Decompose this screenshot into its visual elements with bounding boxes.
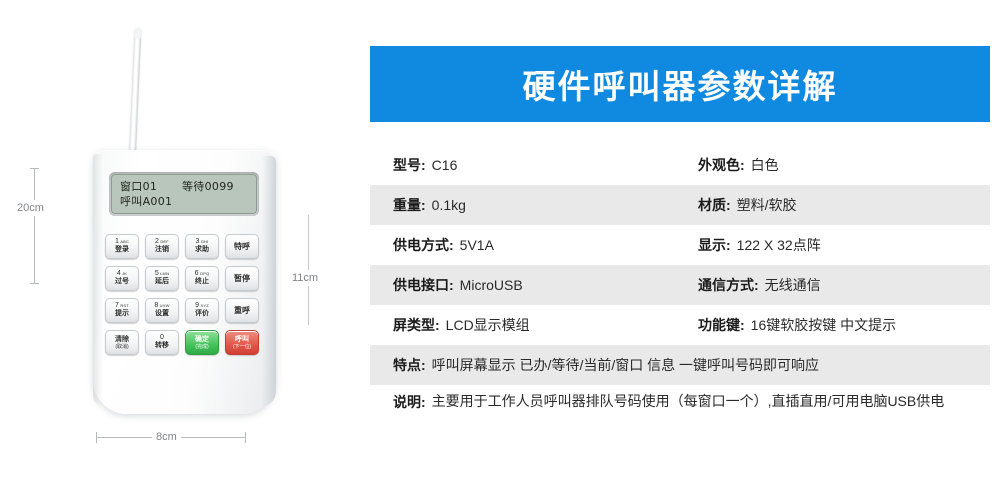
- key-8-settings[interactable]: 8 UVW 设置: [145, 298, 179, 323]
- table-row-note: 说明: 主要用于工作人员呼叫器排队号码使用（每窗口一个）,直插直用/可用电脑US…: [370, 385, 990, 435]
- table-row: 重量: 0.1kg 材质: 塑料/软胶: [370, 185, 990, 225]
- key-label: 评价: [195, 309, 209, 318]
- keypad-row: 清除 (取消) 0 转移 确定 (完成) 呼叫 (下一位): [105, 330, 265, 355]
- spec-value: 122 X 32点阵: [737, 235, 821, 255]
- dimension-label-height: 20cm: [14, 200, 47, 216]
- spec-pane: 硬件呼叫器参数详解 型号: C16 外观色: 白色 重量: 0.1kg 材质: [370, 0, 990, 492]
- spec-cell-power-supply: 供电方式: 5V1A: [393, 235, 698, 255]
- table-row: 屏类型: LCD显示模组 功能键: 16键软胶按键 中文提示: [370, 305, 990, 345]
- key-label: 登录: [115, 245, 129, 254]
- table-row: 供电方式: 5V1A 显示: 122 X 32点阵: [370, 225, 990, 265]
- product-photo-pane: 窗口01 等待0099 呼叫A001 1 ABC 登录 2 DEF: [0, 0, 340, 492]
- spec-cell-power-interface: 供电接口: MicroUSB: [393, 275, 698, 295]
- spec-cell-function-keys: 功能键: 16键软胶按键 中文提示: [698, 315, 980, 335]
- key-4-skip[interactable]: 4 JK 过号: [105, 266, 139, 291]
- spec-label: 通信方式:: [698, 275, 759, 295]
- key-2-logout[interactable]: 2 DEF 注销: [145, 234, 179, 259]
- key-label: 延后: [155, 277, 169, 286]
- key-sublabel: (完成): [195, 344, 208, 350]
- key-7-prompt[interactable]: 7 RST 提示: [105, 298, 139, 323]
- key-3-help[interactable]: 3 GHI 求助: [185, 234, 219, 259]
- key-label: 呼叫: [235, 335, 249, 344]
- spec-value: 呼叫屏幕显示 已办/等待/当前/窗口 信息 一键呼叫号码即可响应: [432, 355, 819, 375]
- spec-value: 无线通信: [765, 275, 821, 295]
- lcd-window-label: 窗口01: [120, 179, 182, 194]
- keypad: 1 ABC 登录 2 DEF 注销 3 GHI 求助 特呼: [105, 234, 265, 362]
- spec-value: LCD显示模组: [446, 315, 530, 335]
- key-label: 确定: [195, 335, 209, 344]
- lcd-screen: 窗口01 等待0099 呼叫A001: [111, 174, 257, 214]
- key-call-next[interactable]: 呼叫 (下一位): [225, 330, 259, 355]
- lcd-bezel: 窗口01 等待0099 呼叫A001: [109, 172, 259, 216]
- spec-label: 重量:: [393, 195, 426, 215]
- spec-value: 塑料/软胶: [737, 195, 797, 215]
- spec-value: C16: [432, 157, 458, 173]
- key-label: 过号: [115, 277, 129, 286]
- key-label: 注销: [155, 245, 169, 254]
- keypad-row: 7 RST 提示 8 UVW 设置 9 XYZ 评价 重呼: [105, 298, 265, 323]
- dimension-line-height: [34, 168, 35, 284]
- key-9-rating[interactable]: 9 XYZ 评价: [185, 298, 219, 323]
- key-sublabel: (取消): [115, 344, 128, 350]
- spec-value: MicroUSB: [460, 277, 523, 293]
- spec-value: 0.1kg: [432, 197, 466, 213]
- spec-cell-model: 型号: C16: [393, 155, 698, 175]
- key-clear-cancel[interactable]: 清除 (取消): [105, 330, 139, 355]
- caller-device: 窗口01 等待0099 呼叫A001 1 ABC 登录 2 DEF: [93, 150, 276, 414]
- key-sublabel: (下一位): [233, 344, 251, 350]
- key-label: 特呼: [234, 242, 250, 252]
- spec-cell-note: 说明: 主要用于工作人员呼叫器排队号码使用（每窗口一个）,直插直用/可用电脑US…: [393, 392, 980, 412]
- page-title: 硬件呼叫器参数详解: [370, 46, 990, 122]
- key-5-postpone[interactable]: 5 LMN 延后: [145, 266, 179, 291]
- spec-value: 主要用于工作人员呼叫器排队号码使用（每窗口一个）,直插直用/可用电脑USB供电: [432, 392, 945, 411]
- key-label: 提示: [115, 309, 129, 318]
- key-label: 转移: [155, 341, 169, 350]
- spec-cell-material: 材质: 塑料/软胶: [698, 195, 980, 215]
- key-label: 重呼: [234, 306, 250, 316]
- spec-value: 5V1A: [460, 237, 494, 253]
- key-label: 清除: [115, 335, 129, 344]
- spec-table: 型号: C16 外观色: 白色 重量: 0.1kg 材质: 塑料/软胶: [370, 145, 990, 435]
- spec-value: 白色: [751, 155, 779, 175]
- key-label: 终止: [195, 277, 209, 286]
- spec-label: 材质:: [698, 195, 731, 215]
- dimension-label-depth: 11cm: [290, 270, 320, 286]
- table-row: 供电接口: MicroUSB 通信方式: 无线通信: [370, 265, 990, 305]
- spec-cell-screen-type: 屏类型: LCD显示模组: [393, 315, 698, 335]
- product-spec-page: 窗口01 等待0099 呼叫A001 1 ABC 登录 2 DEF: [0, 0, 1000, 492]
- key-1-login[interactable]: 1 ABC 登录: [105, 234, 139, 259]
- spec-label: 功能键:: [698, 315, 745, 335]
- key-pause[interactable]: 暂停: [225, 266, 259, 291]
- spec-label: 供电方式:: [393, 235, 454, 255]
- spec-value: 16键软胶按键 中文提示: [751, 315, 896, 335]
- spec-cell-weight: 重量: 0.1kg: [393, 195, 698, 215]
- spec-label: 外观色:: [698, 155, 745, 175]
- lcd-calling-label: 呼叫A001: [120, 194, 172, 209]
- keypad-row: 1 ABC 登录 2 DEF 注销 3 GHI 求助 特呼: [105, 234, 265, 259]
- dimension-label-width: 8cm: [152, 430, 181, 444]
- spec-cell-communication: 通信方式: 无线通信: [698, 275, 980, 295]
- key-0-transfer[interactable]: 0 转移: [145, 330, 179, 355]
- spec-label: 特点:: [393, 355, 426, 375]
- spec-label: 屏类型:: [393, 315, 440, 335]
- table-row-features: 特点: 呼叫屏幕显示 已办/等待/当前/窗口 信息 一键呼叫号码即可响应: [370, 345, 990, 385]
- spec-cell-display: 显示: 122 X 32点阵: [698, 235, 980, 255]
- key-confirm-complete[interactable]: 确定 (完成): [185, 330, 219, 355]
- key-label: 暂停: [234, 274, 250, 284]
- spec-cell-features: 特点: 呼叫屏幕显示 已办/等待/当前/窗口 信息 一键呼叫号码即可响应: [393, 355, 980, 375]
- spec-label: 显示:: [698, 235, 731, 255]
- key-label: 求助: [195, 245, 209, 254]
- table-row: 型号: C16 外观色: 白色: [370, 145, 990, 185]
- key-special-call[interactable]: 特呼: [225, 234, 259, 259]
- lcd-line-2: 呼叫A001: [120, 194, 248, 209]
- key-label: 设置: [155, 309, 169, 318]
- key-6-terminate[interactable]: 6 OPQ 终止: [185, 266, 219, 291]
- spec-label: 型号:: [393, 155, 426, 175]
- lcd-line-1: 窗口01 等待0099: [120, 179, 248, 194]
- spec-label: 供电接口:: [393, 275, 454, 295]
- lcd-waiting-label: 等待0099: [182, 179, 234, 194]
- spec-cell-color: 外观色: 白色: [698, 155, 980, 175]
- keypad-row: 4 JK 过号 5 LMN 延后 6 OPQ 终止 暂停: [105, 266, 265, 291]
- key-recall[interactable]: 重呼: [225, 298, 259, 323]
- spec-label: 说明:: [393, 392, 426, 412]
